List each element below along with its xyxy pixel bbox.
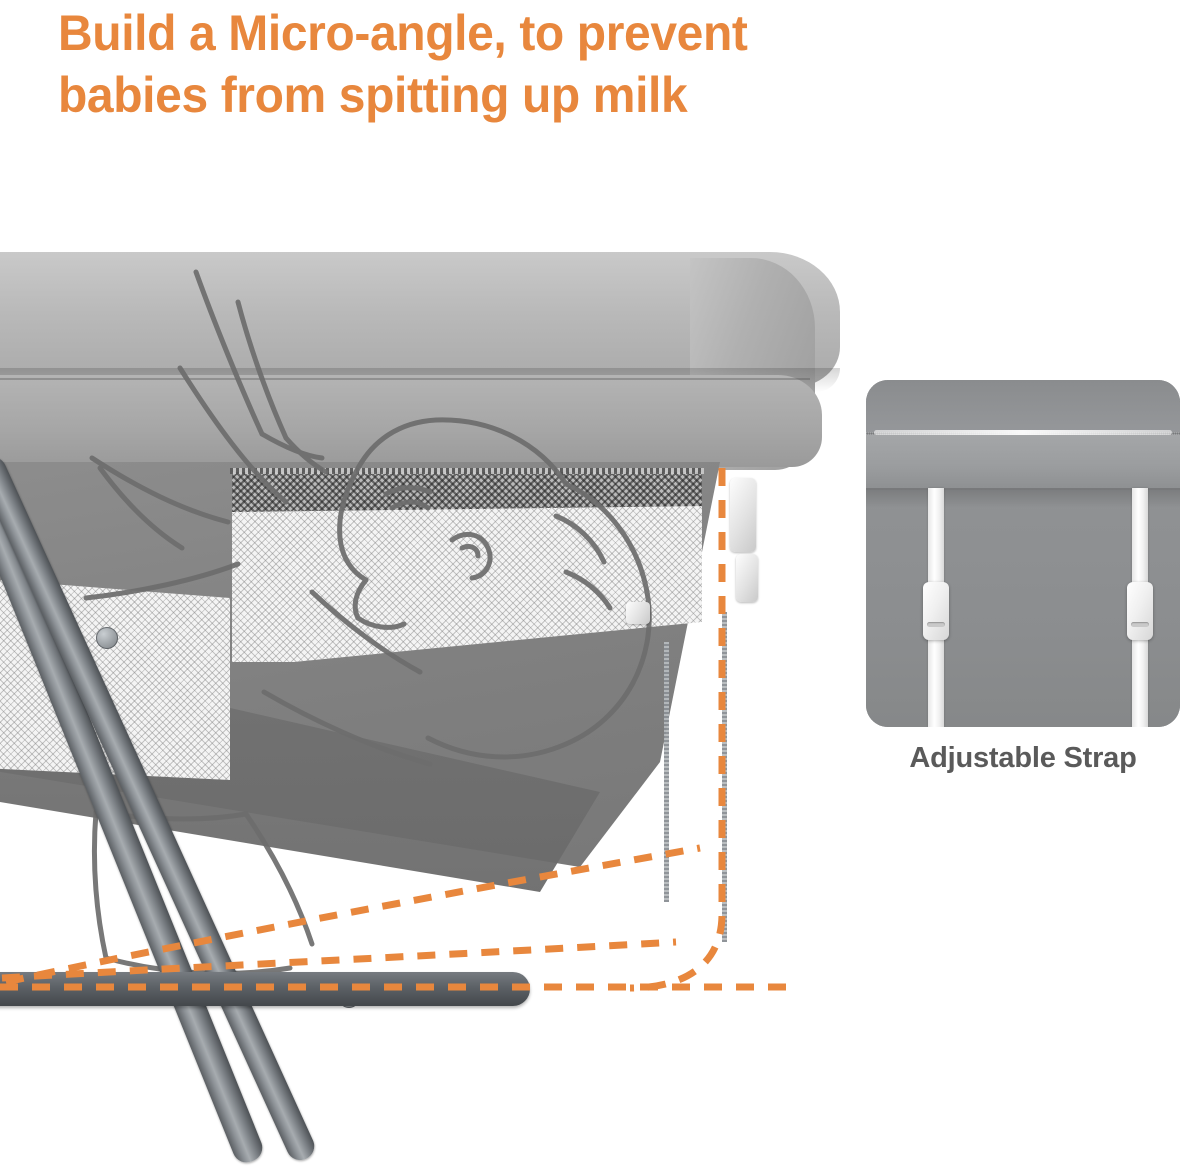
mesh-window-top-shade xyxy=(232,472,702,512)
hanging-strap-right xyxy=(722,612,727,942)
bassinet-foot-bar xyxy=(0,972,530,1006)
product-photo xyxy=(0,172,840,1169)
side-buckle-lower[interactable] xyxy=(736,554,758,602)
mesh-window-trim xyxy=(230,468,704,474)
rail-seam xyxy=(0,378,810,380)
leg-adjust-button-upper[interactable] xyxy=(96,627,118,649)
page-title: Build a Micro-angle, to prevent babies f… xyxy=(58,2,1018,126)
side-buckle-upper[interactable] xyxy=(730,478,756,552)
inset-rail xyxy=(866,435,1180,491)
bassinet-side-rail xyxy=(0,375,822,467)
inset-upper-fabric xyxy=(866,380,1180,432)
adjustable-strap-inset xyxy=(866,380,1180,727)
strap-buckle-left[interactable] xyxy=(923,582,949,640)
strap-anchor-clip[interactable] xyxy=(626,602,650,624)
hanging-strap-left xyxy=(664,642,669,902)
page-root: Build a Micro-angle, to prevent babies f… xyxy=(0,0,1200,1169)
strap-buckle-right[interactable] xyxy=(1127,582,1153,640)
inset-caption: Adjustable Strap xyxy=(866,742,1180,775)
